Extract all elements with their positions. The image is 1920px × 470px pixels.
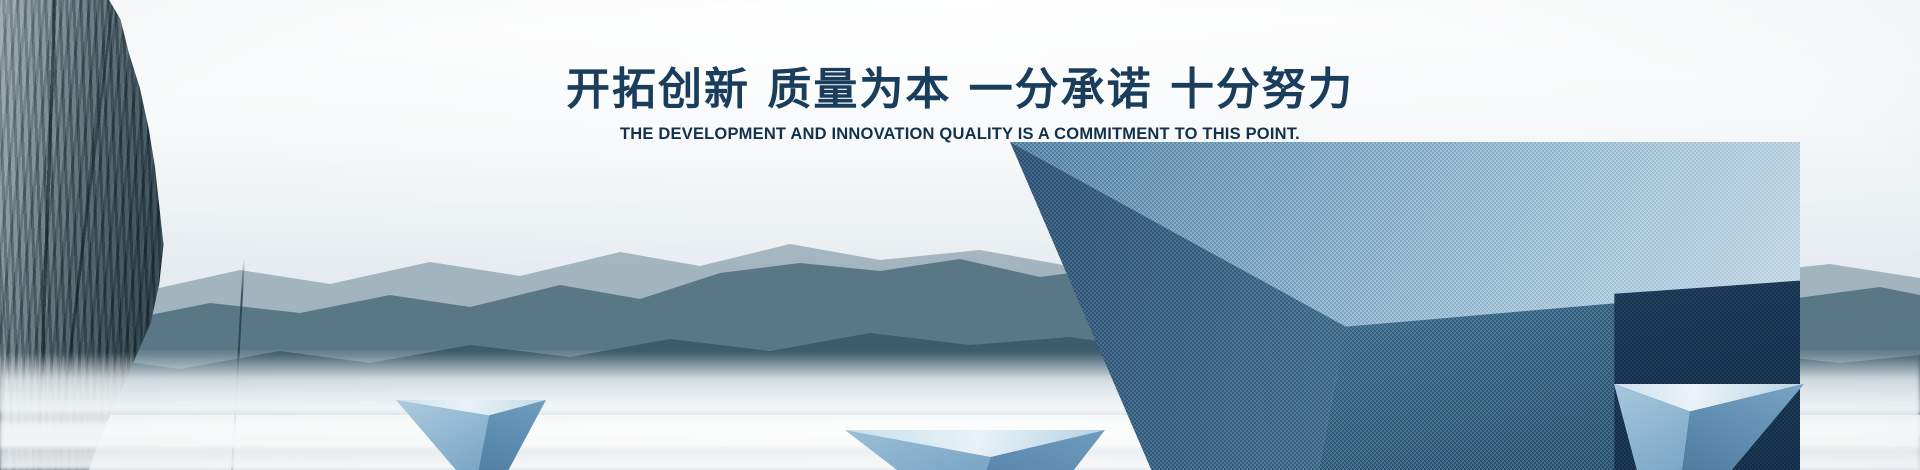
banner-headline: 开拓创新 质量为本 一分承诺 十分努力 (0, 64, 1920, 115)
pyramid-small-right (1614, 384, 1804, 470)
banner-subtitle: THE DEVELOPMENT AND INNOVATION QUALITY I… (0, 125, 1920, 144)
pyramid-small-left (396, 400, 546, 470)
hero-banner: 开拓创新 质量为本 一分承诺 十分努力 THE DEVELOPMENT AND … (0, 0, 1920, 470)
banner-text-block: 开拓创新 质量为本 一分承诺 十分努力 THE DEVELOPMENT AND … (0, 64, 1920, 144)
pyramid-small-center (845, 430, 1105, 470)
